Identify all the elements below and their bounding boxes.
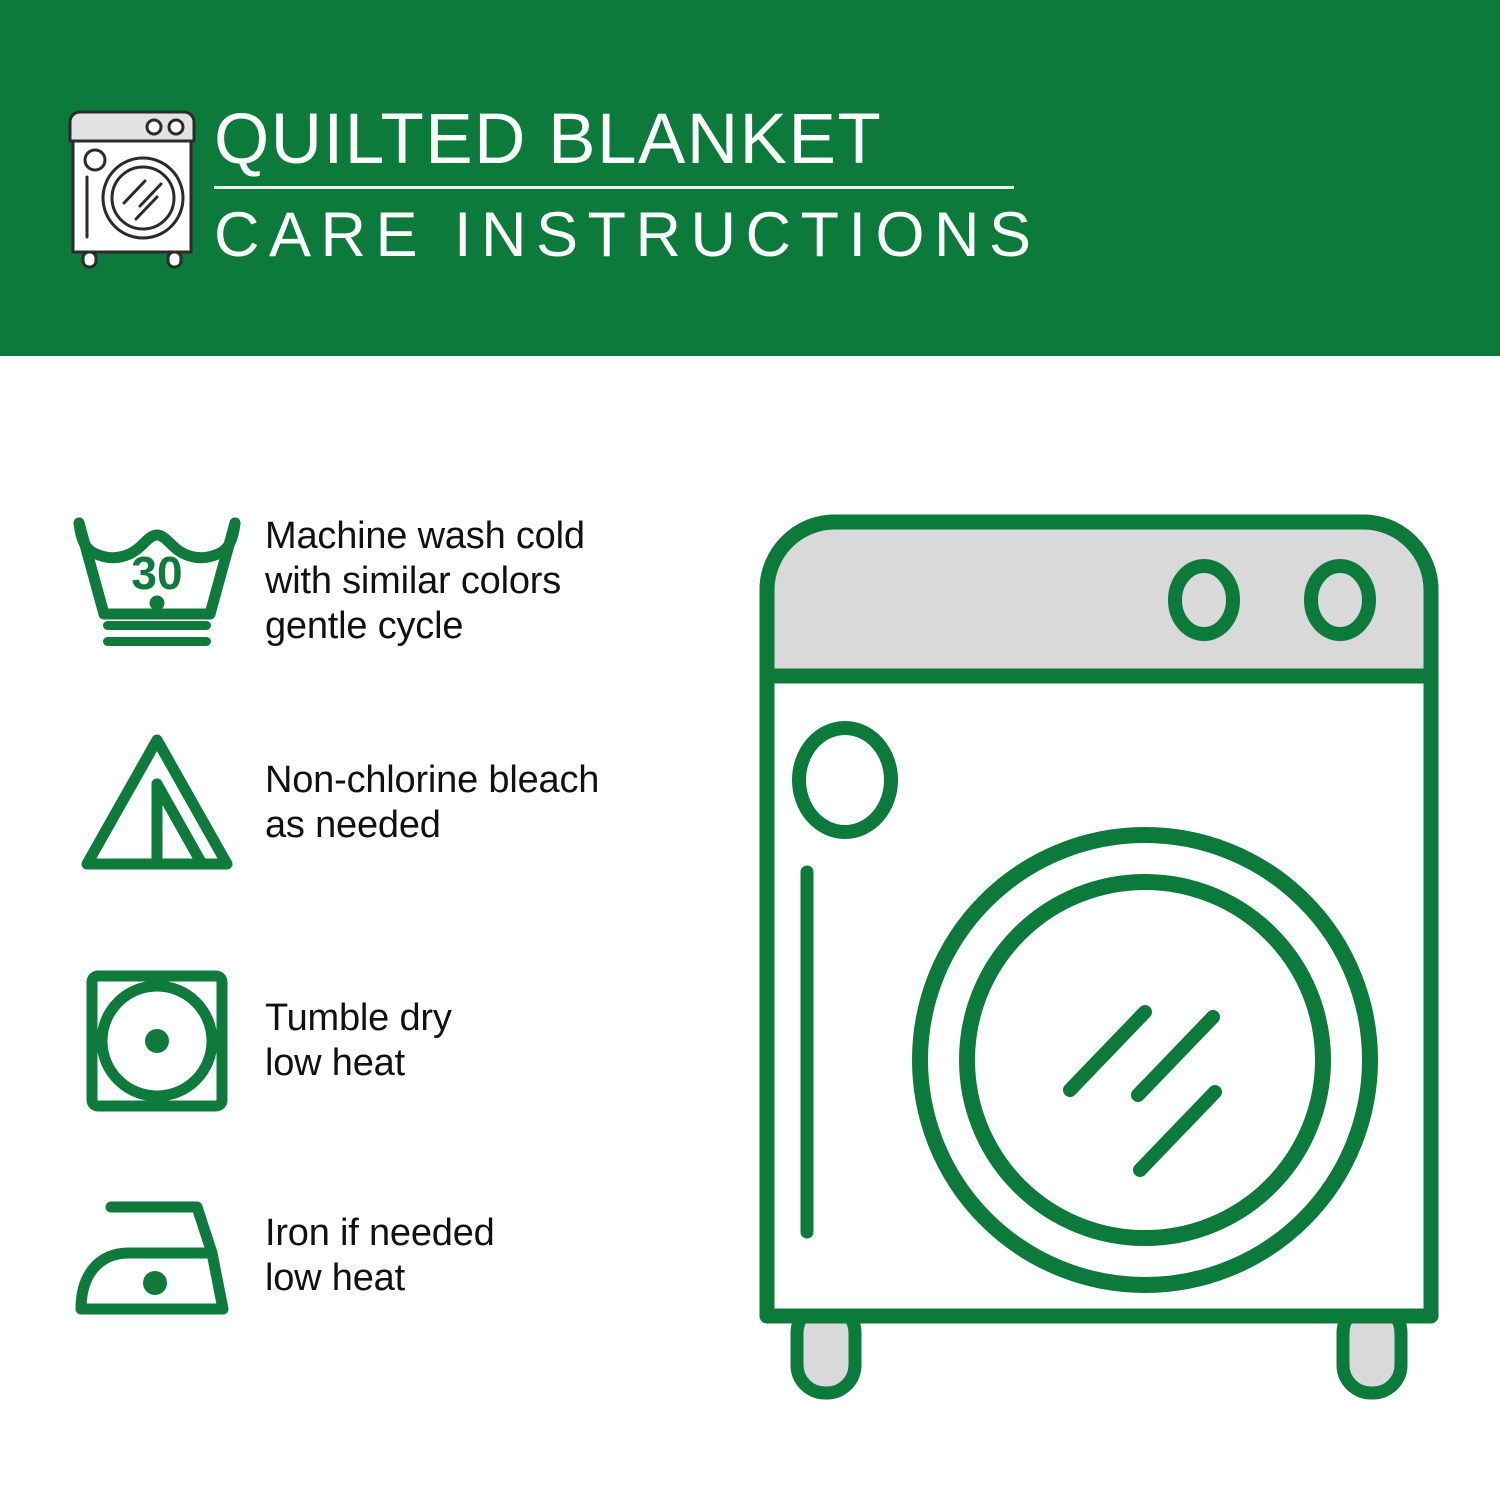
care-label-bleach: Non-chlorine bleach as needed bbox=[265, 758, 599, 848]
care-row-tumble-dry: Tumble dry low heat bbox=[0, 956, 740, 1126]
tumble-dry-icon bbox=[62, 956, 252, 1126]
care-label-wash-line-2: with similar colors bbox=[265, 559, 585, 604]
care-label-tumble-dry-line-2: low heat bbox=[265, 1041, 452, 1086]
care-label-iron-line-2: low heat bbox=[265, 1256, 495, 1301]
care-label-wash-line-3: gentle cycle bbox=[265, 604, 585, 649]
page-title: QUILTED BLANKET bbox=[214, 100, 1024, 180]
header-text-block: QUILTED BLANKET CARE INSTRUCTIONS bbox=[214, 100, 1024, 270]
iron-icon bbox=[62, 1171, 252, 1341]
care-label-bleach-line-2: as needed bbox=[265, 803, 599, 848]
care-label-iron-line-1: Iron if needed bbox=[265, 1211, 495, 1256]
care-row-wash: 30 Machine wash cold with similar colors… bbox=[0, 496, 740, 666]
care-label-tumble-dry-line-1: Tumble dry bbox=[265, 996, 452, 1041]
bleach-triangle-icon bbox=[62, 718, 252, 888]
page-header: QUILTED BLANKET CARE INSTRUCTIONS bbox=[0, 0, 1500, 356]
care-label-iron: Iron if needed low heat bbox=[265, 1211, 495, 1301]
care-label-bleach-line-1: Non-chlorine bleach bbox=[265, 758, 599, 803]
care-row-iron: Iron if needed low heat bbox=[0, 1171, 740, 1341]
wash-temperature-label: 30 bbox=[131, 547, 182, 599]
care-instruction-list: 30 Machine wash cold with similar colors… bbox=[0, 356, 740, 1500]
page-subtitle: CARE INSTRUCTIONS bbox=[214, 200, 1024, 270]
care-label-wash-line-1: Machine wash cold bbox=[265, 514, 585, 559]
wash-tub-30-icon: 30 bbox=[62, 496, 252, 666]
title-divider bbox=[214, 186, 1014, 189]
washing-machine-illustration bbox=[745, 500, 1455, 1410]
washing-machine-icon bbox=[62, 105, 202, 270]
care-instructions-page: QUILTED BLANKET CARE INSTRUCTIONS 30 bbox=[0, 0, 1500, 1500]
care-label-tumble-dry: Tumble dry low heat bbox=[265, 996, 452, 1086]
care-row-bleach: Non-chlorine bleach as needed bbox=[0, 718, 740, 888]
care-label-wash: Machine wash cold with similar colors ge… bbox=[265, 514, 585, 649]
